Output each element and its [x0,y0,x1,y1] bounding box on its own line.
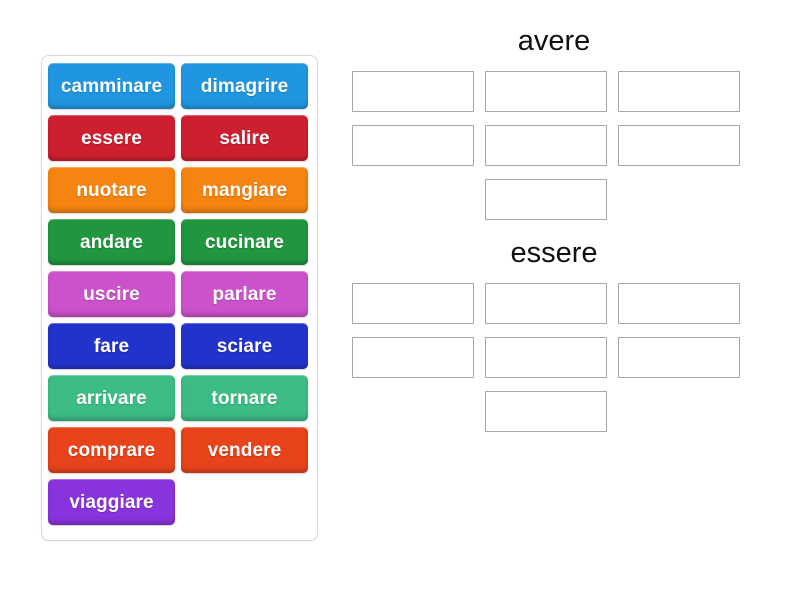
category-essere: essere [352,236,756,432]
drop-zone[interactable] [485,179,607,220]
word-tile[interactable]: camminare [48,63,175,109]
drop-zone[interactable] [485,283,607,324]
drop-zone[interactable] [618,125,740,166]
word-bank-panel: camminaredimagrireesseresalirenuotareman… [41,55,318,541]
category-title-avere: avere [352,24,756,59]
word-tile[interactable]: nuotare [48,167,175,213]
drop-zone[interactable] [352,71,474,112]
word-tile[interactable]: dimagrire [181,63,308,109]
word-tile[interactable]: parlare [181,271,308,317]
drop-zone[interactable] [485,125,607,166]
word-tile[interactable]: salire [181,115,308,161]
word-tile[interactable]: uscire [48,271,175,317]
word-tile[interactable]: arrivare [48,375,175,421]
drop-zone[interactable] [352,125,474,166]
drop-zone[interactable] [352,283,474,324]
word-tile[interactable]: mangiare [181,167,308,213]
category-avere: avere [352,24,756,220]
word-tile[interactable]: cucinare [181,219,308,265]
drop-zone[interactable] [618,337,740,378]
drop-zone[interactable] [352,337,474,378]
word-tile[interactable]: comprare [48,427,175,473]
word-tile[interactable]: fare [48,323,175,369]
word-tile[interactable]: tornare [181,375,308,421]
drop-zone[interactable] [485,391,607,432]
drop-zone-grid-essere [352,283,756,432]
activity-stage: camminaredimagrireesseresalirenuotareman… [0,0,800,600]
word-tile[interactable]: sciare [181,323,308,369]
drop-zone[interactable] [485,71,607,112]
category-columns: avere essere [352,24,756,442]
drop-zone[interactable] [485,337,607,378]
drop-zone-grid-avere [352,71,756,220]
category-title-essere: essere [352,236,756,271]
word-tile[interactable]: vendere [181,427,308,473]
word-tile[interactable]: andare [48,219,175,265]
drop-zone[interactable] [618,283,740,324]
word-tile[interactable]: viaggiare [48,479,175,525]
drop-zone[interactable] [618,71,740,112]
word-tile-grid: camminaredimagrireesseresalirenuotareman… [48,63,311,525]
word-tile[interactable]: essere [48,115,175,161]
